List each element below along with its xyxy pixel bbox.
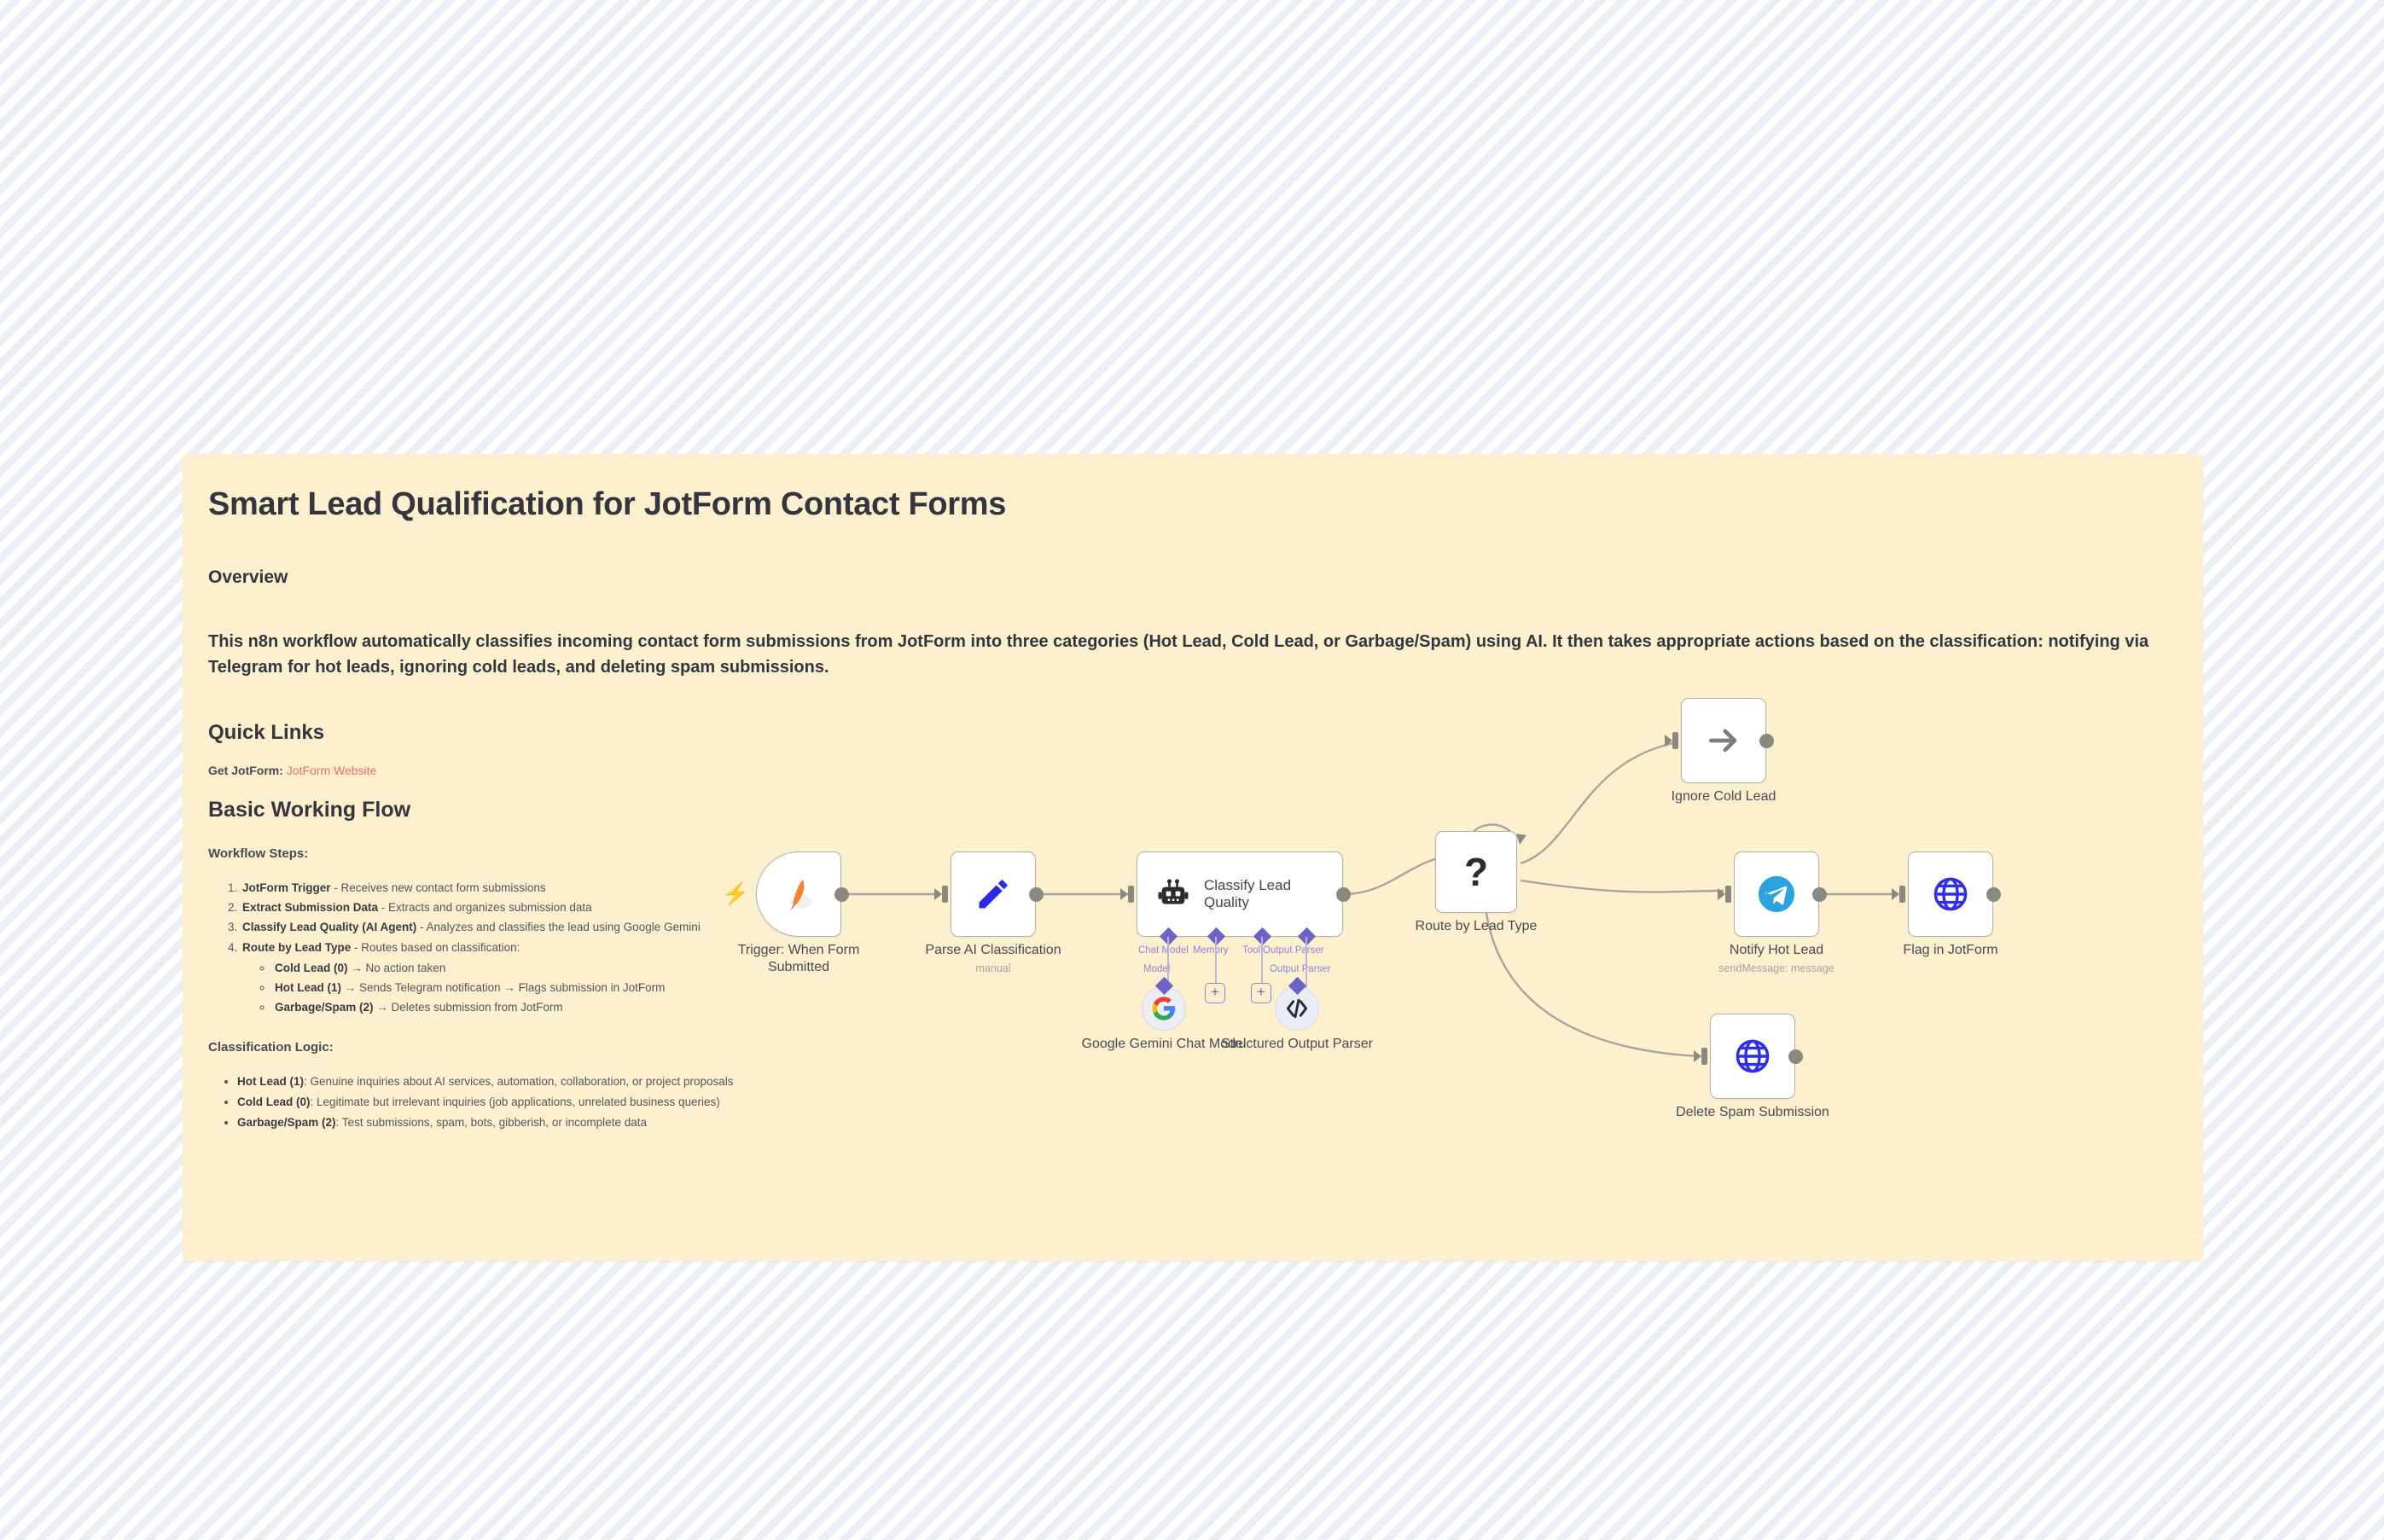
node-classify-lead-quality[interactable]: Classify Lead Quality Chat Model Memory … [1137,851,1343,937]
node-body[interactable]: ? [1435,831,1517,913]
node-ignore-cold-lead[interactable]: Ignore Cold Lead [1681,698,1766,783]
node-parse-ai-classification[interactable]: Parse AI Classification manual [951,851,1036,937]
connector-label-output-parser-2: Output Parser [1270,964,1331,974]
node-body[interactable] [1710,1014,1795,1099]
node-body[interactable] [1734,851,1819,937]
quick-link-label: Get JotForm: [208,764,283,777]
output-port[interactable] [1812,887,1827,902]
globe-icon [1931,875,1970,914]
code-brackets-icon [1284,996,1310,1021]
node-body[interactable] [1908,851,1993,937]
node-sublabel: sendMessage: message [1678,962,1875,974]
add-tool-button[interactable]: + [1251,983,1271,1003]
connector-label-memory: Memory [1193,945,1229,956]
output-port[interactable] [834,887,849,902]
node-flag-in-jotform[interactable]: Flag in JotForm [1908,851,1993,937]
edit-pencil-icon [974,875,1012,913]
connector-label-tool: Tool [1242,945,1260,956]
node-label: Ignore Cold Lead [1634,788,1813,805]
jotform-website-link[interactable]: JotForm Website [287,764,377,777]
basic-flow-heading: Basic Working Flow [196,777,2176,822]
telegram-icon [1757,875,1796,914]
add-memory-button[interactable]: + [1205,983,1225,1003]
connector-stem-tool [1261,937,1263,983]
node-google-gemini-chat-model[interactable]: Google Gemini Chat Model [1142,986,1186,1031]
node-label: Notify Hot Lead [1687,942,1866,959]
node-label: Structured Output Parser [1212,1036,1382,1053]
output-port[interactable] [1759,734,1774,748]
input-port[interactable] [1899,886,1905,903]
node-structured-output-parser[interactable]: Structured Output Parser [1275,986,1319,1031]
list-item: Garbage/Spam (2): Test submissions, spam… [237,1113,2176,1133]
output-port[interactable] [1986,887,2001,902]
list-item: Cold Lead (0): Legitimate but irrelevant… [237,1092,2176,1113]
node-notify-hot-lead[interactable]: Notify Hot Lead sendMessage: message [1734,851,1819,937]
node-delete-spam-submission[interactable]: Delete Spam Submission [1710,1014,1795,1099]
quick-link-row: Get JotForm: JotForm Website [196,745,2176,777]
connector-stem-memory [1215,937,1217,983]
output-port[interactable] [1788,1049,1803,1064]
input-port[interactable] [1672,732,1678,749]
list-item: Hot Lead (1): Genuine inquiries about AI… [237,1072,2176,1092]
overview-heading: Overview [196,523,2176,588]
node-inline-title: Classify Lead Quality [1204,877,1323,912]
input-port[interactable] [1701,1048,1707,1065]
node-label: Delete Spam Submission [1625,1104,1881,1121]
node-body[interactable]: Classify Lead Quality [1137,851,1343,937]
globe-icon [1733,1037,1772,1076]
question-mark-icon: ? [1464,849,1488,895]
node-label: Trigger: When Form Submitted [709,942,888,975]
node-label: Flag in JotForm [1861,942,2040,959]
node-trigger-when-form-submitted[interactable]: ⚡ Trigger: When Form Submitted [756,851,841,937]
input-port[interactable] [1725,886,1731,903]
quick-links-heading: Quick Links [196,721,2176,745]
classification-list: Hot Lead (1): Genuine inquiries about AI… [196,1072,2176,1133]
connector-label-chat-model: Chat Model [1138,945,1189,956]
connector-label-model: Model [1143,964,1170,974]
node-body[interactable] [951,851,1036,937]
node-body[interactable] [756,851,841,937]
connector-stem-output-parser [1305,937,1307,988]
node-route-by-lead-type[interactable]: ? Route by Lead Type [1435,831,1517,913]
node-sublabel: manual [895,962,1091,974]
lightning-bolt-icon: ⚡ [722,882,749,904]
list-item: Cold Lead (0) → No action taken [273,958,2176,978]
documentation-column: Smart Lead Qualification for JotForm Con… [196,462,2176,1133]
output-port[interactable] [1336,887,1351,902]
node-body[interactable] [1681,698,1766,783]
node-label: Route by Lead Type [1374,918,1579,935]
arrow-right-icon [1705,722,1742,759]
node-label: Parse AI Classification [904,942,1083,959]
note-divider [183,1231,2203,1232]
overview-paragraph: This n8n workflow automatically classifi… [196,588,2150,680]
sticky-note-panel[interactable]: Smart Lead Qualification for JotForm Con… [183,454,2203,1261]
input-port[interactable] [942,886,948,903]
page-title: Smart Lead Qualification for JotForm Con… [196,462,2176,523]
output-port[interactable] [1029,887,1044,902]
input-port[interactable] [1128,886,1134,903]
jotform-quill-icon [782,876,816,912]
connector-label-output-parser: Output Parser [1263,945,1324,956]
robot-icon [1156,877,1190,911]
google-icon [1151,996,1177,1021]
